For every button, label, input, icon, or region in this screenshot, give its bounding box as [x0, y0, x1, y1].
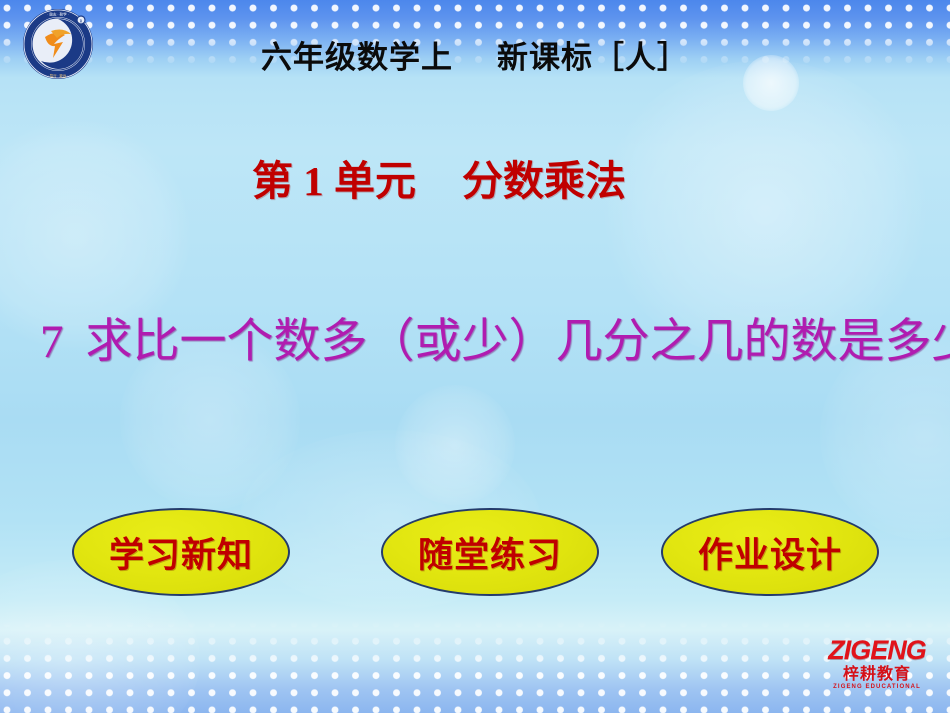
lesson-number: 7: [40, 316, 64, 368]
bokeh-blob: [395, 385, 515, 505]
nav-practice-button[interactable]: 随堂练习: [381, 508, 599, 596]
dot-pattern-bottom: [0, 613, 950, 713]
unit-heading-topic: 分数乘法: [462, 158, 626, 204]
nav-practice-label: 随堂练习: [418, 527, 562, 578]
unit-heading: 第 1 单元分数乘法: [252, 156, 682, 206]
nav-homework-button[interactable]: 作业设计: [661, 508, 879, 596]
brand-wordmark: ZIGENG: [818, 637, 936, 664]
presentation-slide: R · 励志 · 勤学 · · 笃行 · 致远 · 六年级数学上新课标［人］ 第…: [0, 0, 950, 713]
brand-english-name: ZIGENG EDUCATIONAL: [818, 684, 936, 690]
lesson-title-text: 求比一个数多（或少）几分之几的数是多少: [86, 316, 950, 368]
header-title-left: 六年级数学上: [261, 40, 453, 75]
nav-learn-new-label: 学习新知: [109, 527, 253, 578]
nav-learn-new-button[interactable]: 学习新知: [72, 508, 290, 596]
svg-text:R: R: [80, 19, 83, 24]
brand-chinese-name: 梓耕教育: [818, 667, 936, 683]
brand-logo: ZIGENG 梓耕教育 ZIGENG EDUCATIONAL: [818, 637, 936, 703]
lesson-title: 7求比一个数多（或少）几分之几的数是多少: [40, 312, 915, 372]
header-title-right: 新课标［人］: [497, 40, 689, 75]
svg-text:· 励志 · 勤学 ·: · 励志 · 勤学 ·: [47, 12, 69, 17]
unit-heading-number: 第 1 单元: [252, 158, 416, 204]
nav-homework-label: 作业设计: [698, 527, 842, 578]
page-title: 六年级数学上新课标［人］: [0, 32, 950, 77]
